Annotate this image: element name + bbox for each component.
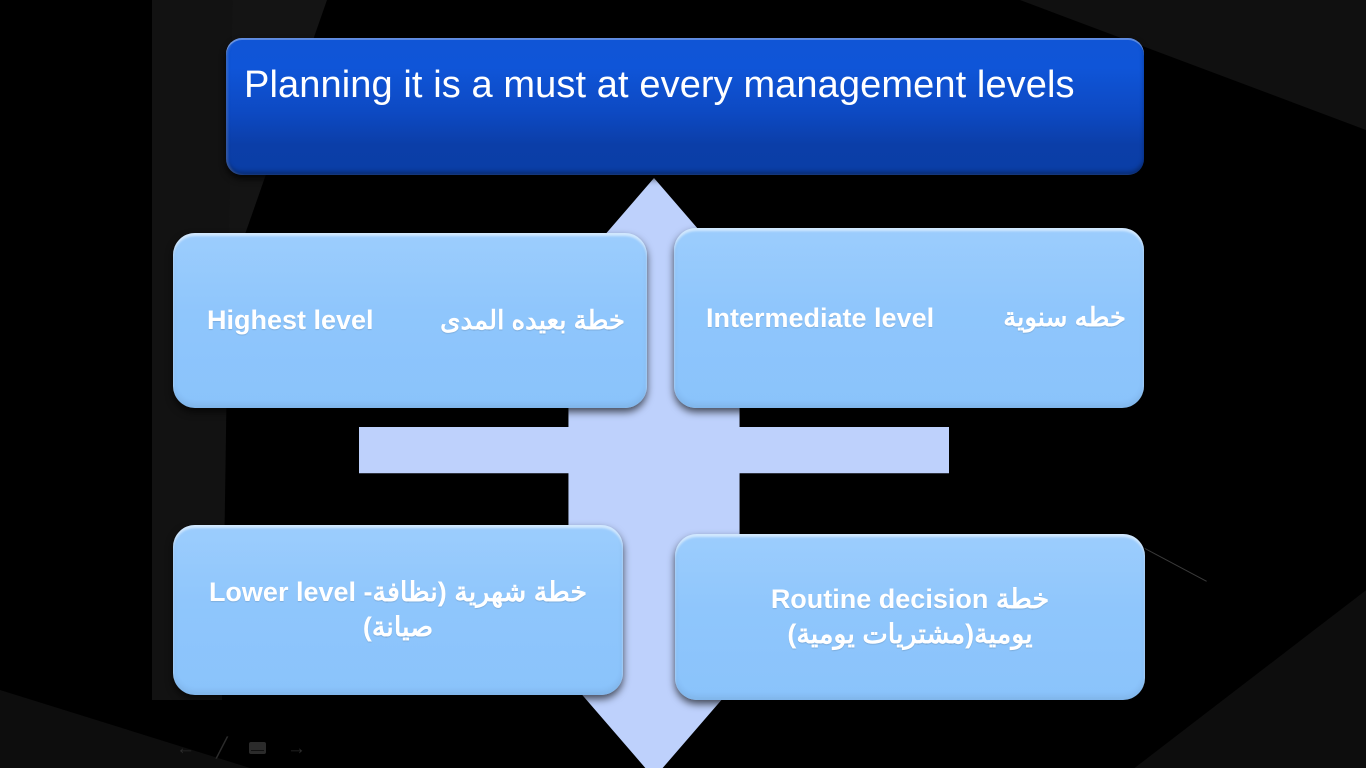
- level-box-highest[interactable]: Highest level خطة بعيده المدى: [173, 233, 647, 408]
- level-box-intermediate-arabic: خطه سنوية: [1003, 301, 1126, 334]
- level-box-routine-text: Routine decision خطة يومية(مشتريات يومية…: [691, 582, 1129, 651]
- slide-canvas: Planning it is a must at every managemen…: [0, 0, 1366, 768]
- level-box-lower[interactable]: Lower level خطة شهرية (نظافة- صيانة): [173, 525, 623, 695]
- level-box-intermediate-english: Intermediate level: [706, 301, 934, 336]
- pen-icon[interactable]: ╱: [216, 739, 227, 758]
- previous-arrow-icon[interactable]: ←: [176, 739, 195, 758]
- level-box-highest-arabic: خطة بعيده المدى: [440, 304, 625, 337]
- slide-title-banner: Planning it is a must at every managemen…: [226, 38, 1144, 175]
- level-box-intermediate-text: Intermediate level خطه سنوية: [690, 301, 1128, 336]
- level-box-highest-text: Highest level خطة بعيده المدى: [189, 303, 631, 338]
- presentation-toolbar: ← ╱ →: [176, 736, 306, 760]
- level-box-highest-english: Highest level: [207, 303, 374, 338]
- page-title: Planning it is a must at every managemen…: [244, 64, 1075, 108]
- slide-menu-icon[interactable]: [249, 742, 266, 754]
- level-box-routine[interactable]: Routine decision خطة يومية(مشتريات يومية…: [675, 534, 1145, 700]
- level-box-intermediate[interactable]: Intermediate level خطه سنوية: [674, 228, 1144, 408]
- level-box-lower-text: Lower level خطة شهرية (نظافة- صيانة): [189, 575, 607, 644]
- next-arrow-icon[interactable]: →: [287, 739, 306, 758]
